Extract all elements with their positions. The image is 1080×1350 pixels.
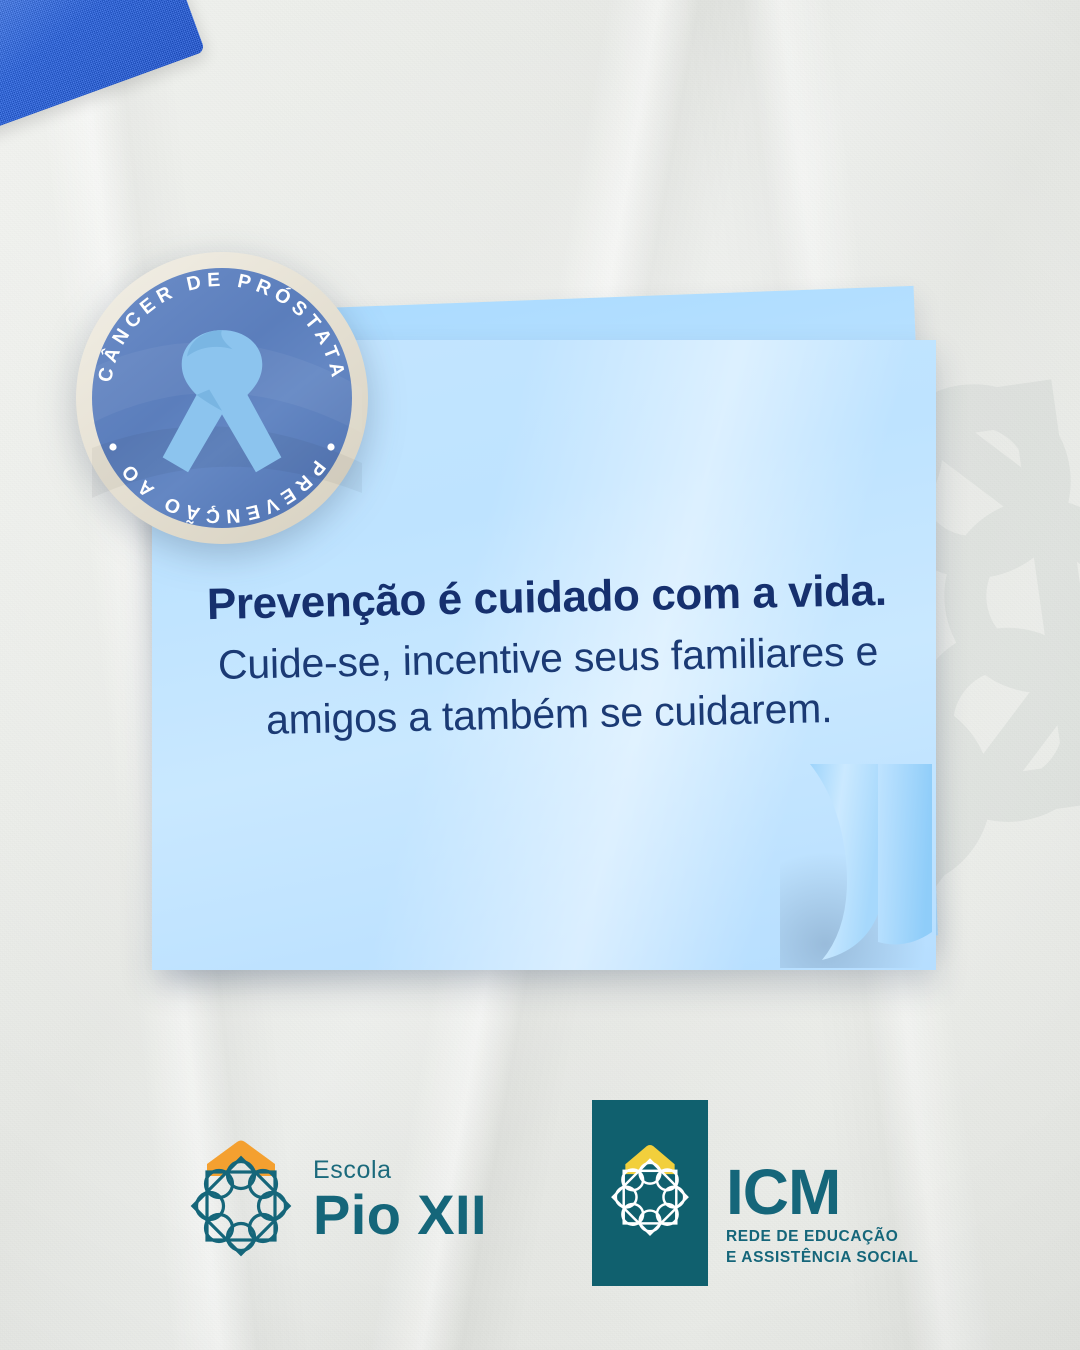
pio-title: Pio XII <box>313 1187 487 1243</box>
pio-eyebrow: Escola <box>313 1158 487 1183</box>
icm-title: ICM <box>726 1166 919 1218</box>
pio-wordmark: Escola Pio XII <box>313 1158 487 1243</box>
icm-logo[interactable]: ICM REDE DE EDUCAÇÃO E ASSISTÊNCIA SOCIA… <box>592 1100 919 1286</box>
icm-mandala-icon <box>604 1130 696 1256</box>
icm-tagline: REDE DE EDUCAÇÃO E ASSISTÊNCIA SOCIAL <box>726 1227 919 1269</box>
escola-pio-xii-logo[interactable]: Escola Pio XII <box>185 1138 487 1262</box>
icm-tagline-line-2: E ASSISTÊNCIA SOCIAL <box>726 1248 919 1269</box>
pio-mandala-icon <box>185 1138 297 1262</box>
icm-mark-block <box>592 1100 708 1286</box>
icm-wordmark: ICM REDE DE EDUCAÇÃO E ASSISTÊNCIA SOCIA… <box>726 1100 919 1269</box>
curl-shadow <box>780 848 930 968</box>
poster-canvas: Prevenção é cuidado com a vida. Cuide-se… <box>0 0 1080 1350</box>
note-card-text-block: Prevenção é cuidado com a vida. Cuide-se… <box>168 567 927 750</box>
prostate-cancer-awareness-seal: CÂNCER DE PRÓSTATA PREVENÇÃO AO <box>72 248 372 548</box>
note-body-line-1: Cuide-se, incentive seus familiares e <box>217 628 878 688</box>
icm-tagline-line-1: REDE DE EDUCAÇÃO <box>726 1227 919 1248</box>
note-body: Cuide-se, incentive seus familiares e am… <box>170 623 928 750</box>
footer-logos: Escola Pio XII <box>0 1100 1080 1320</box>
